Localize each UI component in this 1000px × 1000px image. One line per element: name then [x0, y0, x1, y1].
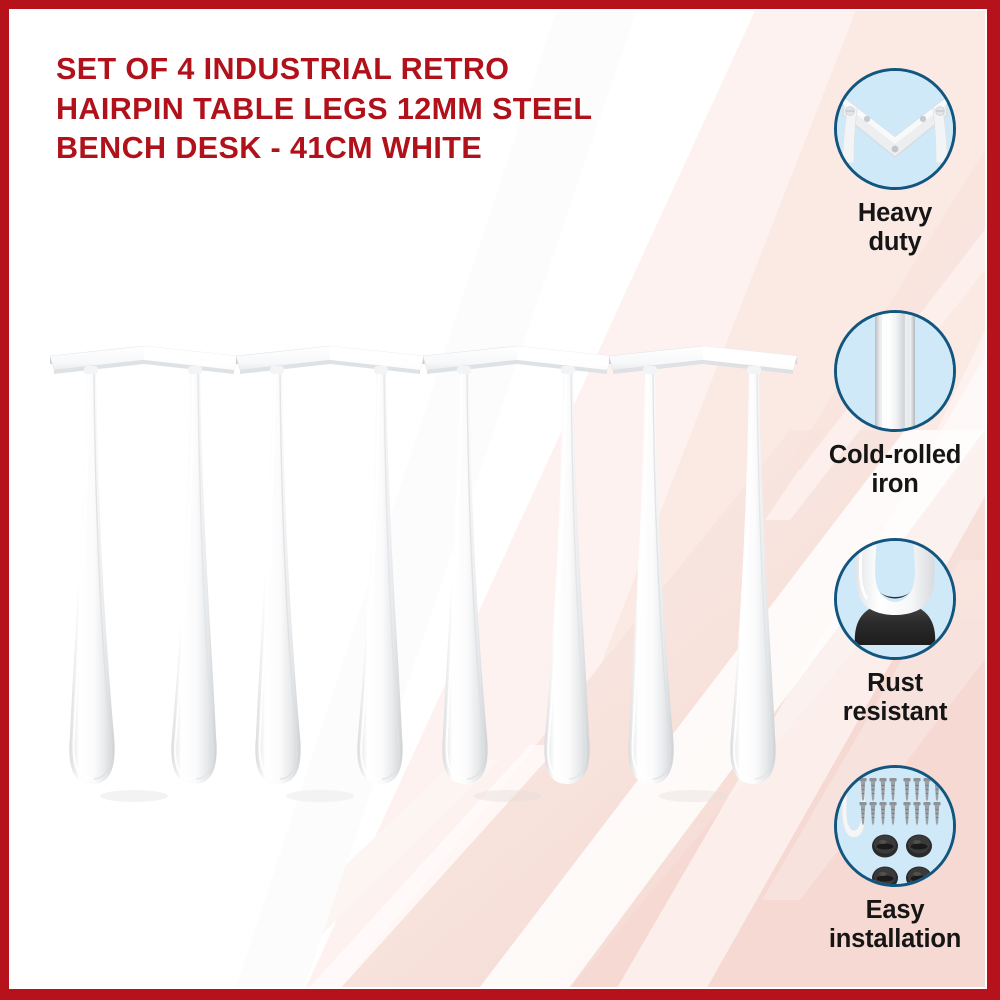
hairpin-leg-4	[609, 346, 797, 784]
screws-and-pads-icon	[834, 765, 956, 887]
feature-cold-rolled-iron: Cold-rolled iron	[800, 310, 990, 499]
feature-caption: Easy installation	[800, 896, 990, 954]
feature-caption-line-1: Cold-rolled	[800, 441, 990, 470]
hairpin-leg-2	[236, 346, 424, 784]
feature-caption: Cold-rolled iron	[800, 441, 990, 499]
feature-rust-resistant: Rust resistant	[800, 538, 990, 727]
steel-rod-icon	[834, 310, 956, 432]
feature-heavy-duty: Heavy duty	[800, 68, 990, 257]
feature-caption-line-2: installation	[800, 925, 990, 954]
frame-border-left	[0, 0, 9, 1000]
product-title-line-1: SET OF 4 INDUSTRIAL RETRO	[56, 50, 736, 90]
feature-caption: Heavy duty	[800, 199, 990, 257]
feature-caption-line-2: duty	[800, 228, 990, 257]
feature-caption-line-2: iron	[800, 470, 990, 499]
product-image-canvas: SET OF 4 INDUSTRIAL RETRO HAIRPIN TABLE …	[0, 0, 1000, 1000]
feature-caption: Rust resistant	[800, 669, 990, 727]
feature-caption-line-1: Rust	[800, 669, 990, 698]
frame-border-right	[987, 0, 1000, 1000]
hairpin-leg-1	[50, 346, 238, 784]
feature-caption-line-2: resistant	[800, 698, 990, 727]
rubber-foot-icon	[834, 538, 956, 660]
mounting-plate-icon	[834, 68, 956, 190]
product-title: SET OF 4 INDUSTRIAL RETRO HAIRPIN TABLE …	[56, 50, 736, 169]
product-title-line-2: HAIRPIN TABLE LEGS 12MM STEEL	[56, 90, 736, 130]
feature-easy-installation: Easy installation	[800, 765, 990, 954]
frame-border-top	[0, 0, 1000, 9]
product-title-line-3: BENCH DESK - 41CM WHITE	[56, 129, 736, 169]
frame-border-bottom	[0, 989, 1000, 1000]
feature-caption-line-1: Heavy	[800, 199, 990, 228]
feature-caption-line-1: Easy	[800, 896, 990, 925]
hairpin-leg-3	[423, 346, 611, 784]
